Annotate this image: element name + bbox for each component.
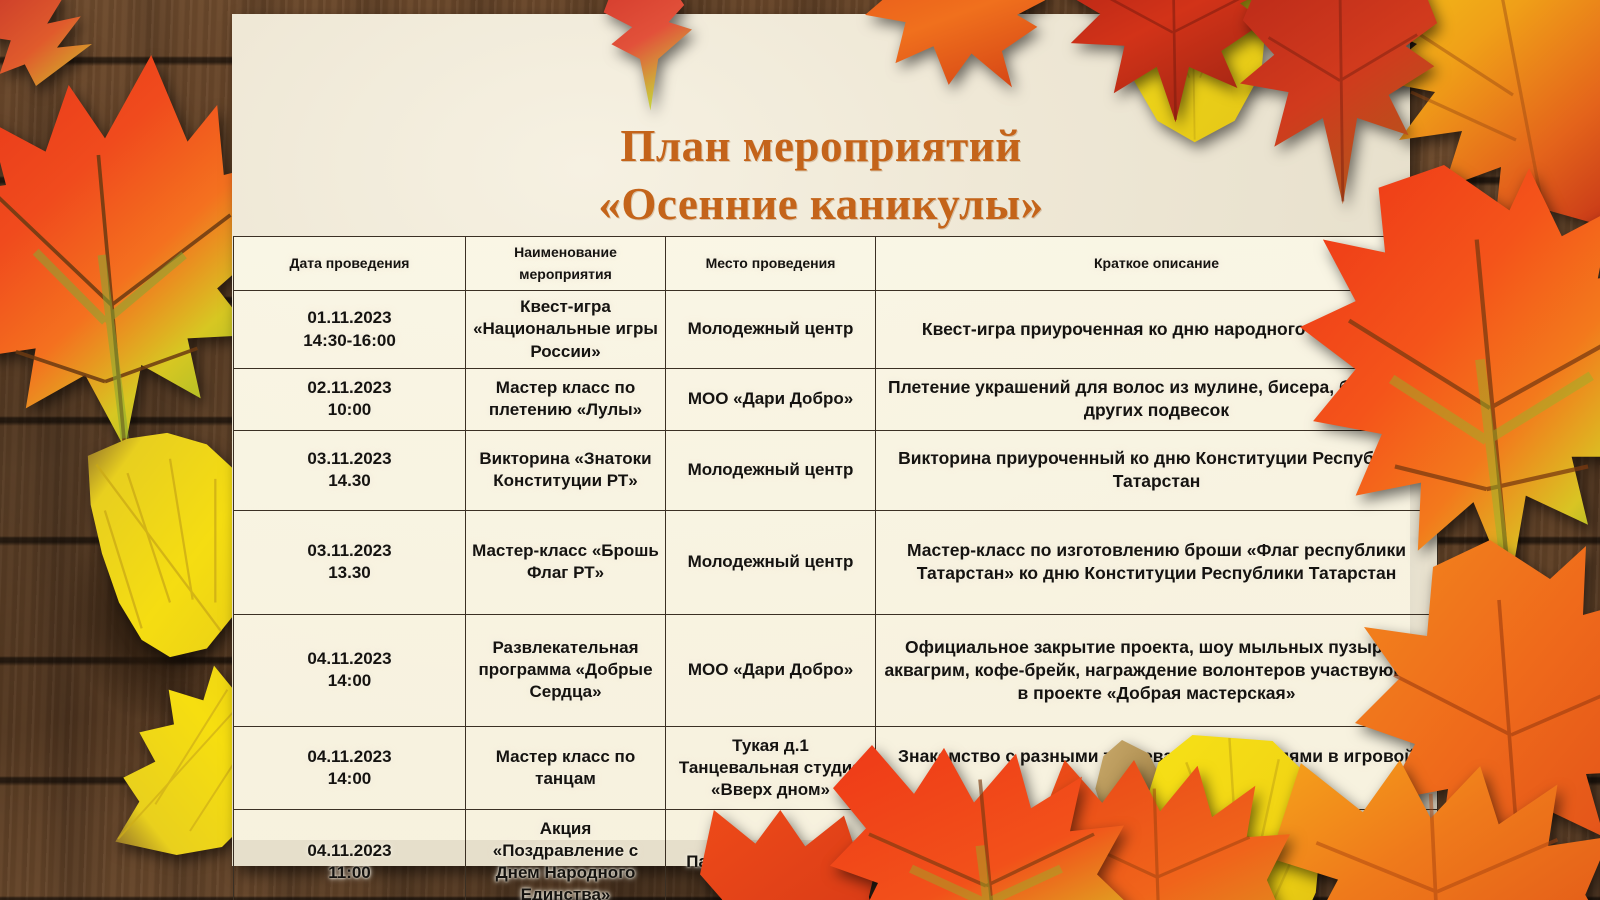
cell-date-line-2: 11:00 (328, 863, 371, 882)
cell-place: МОО «Дари Добро» (666, 368, 876, 430)
cell-date-line-1: 03.11.2023 (307, 449, 391, 468)
cell-date: 02.11.2023 10:00 (234, 368, 466, 430)
cell-date-line-2: 14:00 (328, 769, 371, 788)
yellow-leaf-icon (85, 430, 255, 660)
page-title: План мероприятий «Осенние каникулы» (232, 118, 1410, 233)
cell-date-line-1: 01.11.2023 (307, 308, 391, 327)
column-header-name-line-2: мероприятия (519, 266, 612, 282)
cell-date: 04.11.2023 14:00 (234, 726, 466, 809)
cell-event-name: Квест-игра «Национальные игры России» (466, 291, 666, 368)
table-row: 01.11.2023 14:30-16:00 Квест-игра «Нацио… (234, 291, 1438, 368)
column-header-place: Место проведения (666, 237, 876, 291)
cell-date-line-1: 04.11.2023 (307, 649, 391, 668)
maple-leaf-icon (0, 55, 270, 455)
cell-date-line-1: 04.11.2023 (307, 747, 391, 766)
column-header-date: Дата проведения (234, 237, 466, 291)
cell-event-name: Развлекательная программа «Добрые Сердца… (466, 614, 666, 726)
cell-date: 04.11.2023 11:00 (234, 809, 466, 900)
cell-place: МОО «Дари Добро» (666, 614, 876, 726)
cell-place: Молодежный центр (666, 291, 876, 368)
cell-event-name: Мастер класс по плетению «Лулы» (466, 368, 666, 430)
cell-date-line-1: 02.11.2023 (307, 378, 391, 397)
cell-date-line-2: 14:00 (328, 671, 371, 690)
cell-date: 03.11.2023 13.30 (234, 510, 466, 614)
slide-canvas: План мероприятий «Осенние каникулы» (0, 0, 1600, 900)
column-header-name-line-1: Наименование (514, 244, 617, 260)
cell-event-name: Акция «Поздравление с Днем Народного Еди… (466, 809, 666, 900)
cell-event-name: Викторина «Знатоки Конституции РТ» (466, 430, 666, 510)
cell-date: 03.11.2023 14.30 (234, 430, 466, 510)
cell-place: Молодежный центр (666, 430, 876, 510)
table-row: 04.11.2023 14:00 Развлекательная програм… (234, 614, 1438, 726)
table-header-row: Дата проведения Наименование мероприятия… (234, 237, 1438, 291)
cell-date-line-2: 14:30-16:00 (303, 331, 396, 350)
maple-leaf-icon (1270, 760, 1600, 900)
table-row: 03.11.2023 14.30 Викторина «Знатоки Конс… (234, 430, 1438, 510)
cell-place: Молодежный центр (666, 510, 876, 614)
cell-date-line-1: 04.11.2023 (307, 841, 391, 860)
column-header-name: Наименование мероприятия (466, 237, 666, 291)
table-row: 02.11.2023 10:00 Мастер класс по плетени… (234, 368, 1438, 430)
cell-date: 01.11.2023 14:30-16:00 (234, 291, 466, 368)
cell-date-line-2: 14.30 (328, 471, 371, 490)
cell-event-name: Мастер класс по танцам (466, 726, 666, 809)
page-title-line-1: План мероприятий (232, 118, 1410, 176)
cell-event-name: Мастер-класс «Брошь Флаг РТ» (466, 510, 666, 614)
cell-date: 04.11.2023 14:00 (234, 614, 466, 726)
maple-leaf-icon (588, 0, 718, 113)
cell-date-line-1: 03.11.2023 (307, 541, 391, 560)
cell-date-line-2: 13.30 (328, 563, 371, 582)
table-row: 03.11.2023 13.30 Мастер-класс «Брошь Фла… (234, 510, 1438, 614)
maple-leaf-icon (830, 745, 1130, 900)
table-header: Дата проведения Наименование мероприятия… (234, 237, 1438, 291)
cell-date-line-2: 10:00 (328, 400, 371, 419)
maple-leaf-icon (860, 0, 1050, 97)
page-title-line-2: «Осенние каникулы» (232, 176, 1410, 234)
